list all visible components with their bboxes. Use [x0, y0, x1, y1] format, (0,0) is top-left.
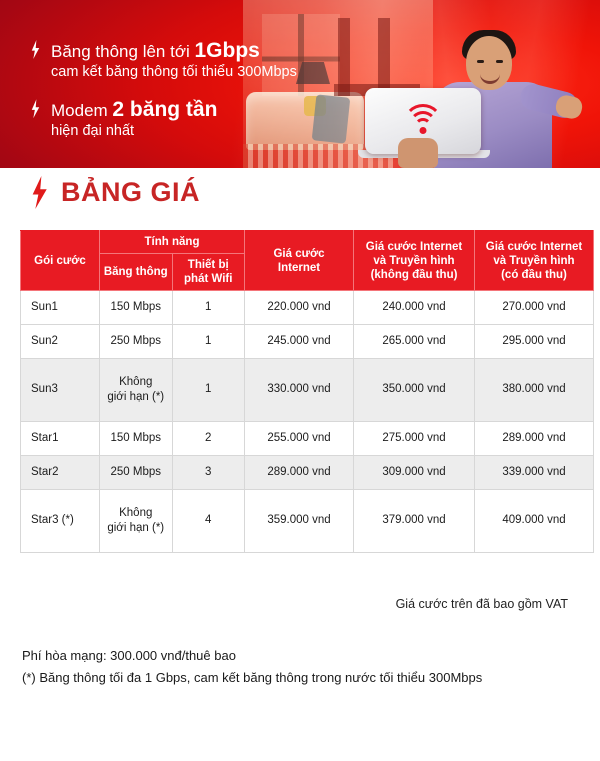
cell-price-internet: 359.000 vnd: [245, 489, 354, 552]
cell-wifi-devices: 4: [172, 489, 245, 552]
cell-package: Sun3: [21, 358, 100, 421]
header-features-group: Tính năng: [100, 231, 245, 254]
table-row: Star2 250 Mbps 3 289.000 vnd 309.000 vnd…: [21, 455, 594, 489]
cell-price-tv-box: 339.000 vnd: [475, 455, 594, 489]
cell-wifi-devices: 1: [172, 291, 245, 325]
table-row: Sun1 150 Mbps 1 220.000 vnd 240.000 vnd …: [21, 291, 594, 325]
page-title: BẢNG GIÁ: [61, 177, 200, 208]
table-body: Sun1 150 Mbps 1 220.000 vnd 240.000 vnd …: [21, 291, 594, 553]
footer-note-bandwidth: (*) Băng thông tối đa 1 Gbps, cam kết bă…: [22, 667, 482, 689]
cell-price-tv-no-box: 350.000 vnd: [354, 358, 475, 421]
promo-banner: Băng thông lên tới 1Gbps cam kết băng th…: [0, 0, 600, 168]
cell-price-tv-no-box: 240.000 vnd: [354, 291, 475, 325]
section-title: BẢNG GIÁ: [30, 176, 200, 209]
table-row: Star1 150 Mbps 2 255.000 vnd 275.000 vnd…: [21, 421, 594, 455]
header-tv-no-box-line1: Giá cước Internet: [356, 240, 472, 254]
bullet-2-prefix: Modem: [51, 101, 112, 120]
cell-bandwidth-line2: giới hạn (*): [102, 521, 170, 536]
cell-price-tv-box: 289.000 vnd: [475, 421, 594, 455]
footer-note-installation-fee: Phí hòa mạng: 300.000 vnđ/thuê bao: [22, 645, 482, 667]
cell-price-tv-no-box: 275.000 vnd: [354, 421, 475, 455]
cell-price-internet: 255.000 vnd: [245, 421, 354, 455]
footer-notes: Phí hòa mạng: 300.000 vnđ/thuê bao (*) B…: [22, 645, 482, 689]
cell-package: Star1: [21, 421, 100, 455]
bullet-2-line-1: Modem 2 băng tần: [51, 97, 217, 123]
table-header: Gói cước Tính năng Giá cước Internet Giá…: [21, 231, 594, 291]
header-internet-price-line1: Giá cước: [247, 247, 351, 261]
table-row: Star3 (*) Không giới hạn (*) 4 359.000 v…: [21, 489, 594, 552]
person-eye-left: [477, 60, 484, 63]
wifi-icon: [405, 104, 441, 134]
table-header-row-1: Gói cước Tính năng Giá cước Internet Giá…: [21, 231, 594, 254]
cell-bandwidth: 250 Mbps: [100, 455, 173, 489]
cell-price-internet: 245.000 vnd: [245, 324, 354, 358]
bullet-2-highlight: 2 băng tần: [112, 98, 217, 121]
cell-price-tv-box: 295.000 vnd: [475, 324, 594, 358]
header-tv-with-box-line3: (có đầu thu): [477, 268, 591, 282]
bullet-1-prefix: Băng thông lên tới: [51, 42, 194, 61]
header-wifi-device-line1: Thiết bị: [175, 258, 243, 272]
cell-price-tv-no-box: 309.000 vnd: [354, 455, 475, 489]
cell-bandwidth: 150 Mbps: [100, 421, 173, 455]
banner-bullet-1: Băng thông lên tới 1Gbps cam kết băng th…: [30, 38, 330, 81]
cell-bandwidth: Không giới hạn (*): [100, 489, 173, 552]
cell-package: Star3 (*): [21, 489, 100, 552]
person-eye-right: [496, 60, 503, 63]
cell-bandwidth: Không giới hạn (*): [100, 358, 173, 421]
table-row: Sun2 250 Mbps 1 245.000 vnd 265.000 vnd …: [21, 324, 594, 358]
header-package: Gói cước: [21, 231, 100, 291]
cell-bandwidth-line1: Không: [102, 375, 170, 390]
bullet-2-line-2: hiện đại nhất: [51, 123, 217, 141]
banner-bullet-list: Băng thông lên tới 1Gbps cam kết băng th…: [30, 38, 330, 157]
cell-price-internet: 289.000 vnd: [245, 455, 354, 489]
lightning-bolt-icon: [30, 40, 41, 59]
cell-price-internet: 220.000 vnd: [245, 291, 354, 325]
table-row: Sun3 Không giới hạn (*) 1 330.000 vnd 35…: [21, 358, 594, 421]
cell-wifi-devices: 1: [172, 324, 245, 358]
header-wifi-device-line2: phát Wifi: [175, 272, 243, 286]
cell-bandwidth-line2: giới hạn (*): [102, 390, 170, 405]
cell-package: Sun1: [21, 291, 100, 325]
cell-package: Star2: [21, 455, 100, 489]
cell-price-tv-box: 270.000 vnd: [475, 291, 594, 325]
lightning-bolt-icon: [30, 176, 49, 209]
bullet-1-line-2: cam kết băng thông tối thiểu 300Mbps: [51, 64, 297, 82]
cell-bandwidth: 150 Mbps: [100, 291, 173, 325]
cell-price-internet: 330.000 vnd: [245, 358, 354, 421]
header-tv-with-box: Giá cước Internet và Truyền hình (có đầu…: [475, 231, 594, 291]
header-tv-no-box: Giá cước Internet và Truyền hình (không …: [354, 231, 475, 291]
header-internet-price-line2: Internet: [247, 261, 351, 275]
cell-bandwidth: 250 Mbps: [100, 324, 173, 358]
header-tv-no-box-line2: và Truyền hình: [356, 254, 472, 268]
header-internet-price: Giá cước Internet: [245, 231, 354, 291]
header-tv-no-box-line3: (không đầu thu): [356, 268, 472, 282]
cell-bandwidth-line1: Không: [102, 506, 170, 521]
header-bandwidth: Băng thông: [100, 254, 173, 291]
header-tv-with-box-line2: và Truyền hình: [477, 254, 591, 268]
cell-wifi-devices: 3: [172, 455, 245, 489]
cell-wifi-devices: 2: [172, 421, 245, 455]
cell-wifi-devices: 1: [172, 358, 245, 421]
price-table: Gói cước Tính năng Giá cước Internet Giá…: [20, 230, 594, 553]
header-wifi-device: Thiết bị phát Wifi: [172, 254, 245, 291]
vat-note: Giá cước trên đã bao gồm VAT: [396, 597, 568, 611]
cell-price-tv-no-box: 379.000 vnd: [354, 489, 475, 552]
header-tv-with-box-line1: Giá cước Internet: [477, 240, 591, 254]
banner-bullet-2: Modem 2 băng tần hiện đại nhất: [30, 97, 330, 140]
cell-package: Sun2: [21, 324, 100, 358]
cell-price-tv-box: 409.000 vnd: [475, 489, 594, 552]
lightning-bolt-icon: [30, 99, 41, 118]
bullet-1-highlight: 1Gbps: [194, 39, 259, 62]
bullet-1-line-1: Băng thông lên tới 1Gbps: [51, 38, 297, 64]
cell-price-tv-box: 380.000 vnd: [475, 358, 594, 421]
cell-price-tv-no-box: 265.000 vnd: [354, 324, 475, 358]
